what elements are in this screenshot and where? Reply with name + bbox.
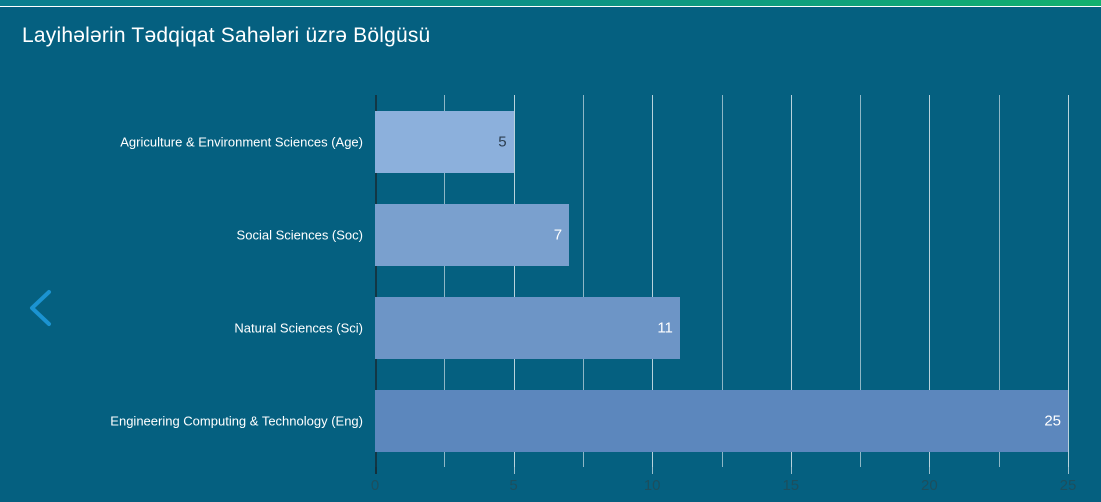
x-tick-label: 25: [1060, 477, 1077, 494]
bar-value-label: 25: [1044, 412, 1061, 429]
tick-mark: [1068, 467, 1069, 474]
category-label: Social Sciences (Soc): [237, 227, 363, 242]
bar[interactable]: 11: [375, 297, 680, 359]
category-axis-labels: Agriculture & Environment Sciences (Age)…: [0, 95, 363, 467]
x-tick-label: 20: [921, 477, 938, 494]
x-tick-label: 15: [782, 477, 799, 494]
bar-value-label: 11: [657, 319, 673, 336]
gridline-major: [1068, 95, 1069, 467]
top-divider-rule: [0, 6, 1101, 7]
category-label: Natural Sciences (Sci): [234, 320, 363, 335]
x-tick-label: 5: [509, 477, 517, 494]
tick-mark: [791, 467, 792, 474]
bar-value-label: 5: [498, 133, 506, 150]
tick-mark: [514, 467, 515, 474]
page-title: Layihələrin Tədqiqat Sahələri üzrə Bölgü…: [22, 24, 430, 48]
category-label: Engineering Computing & Technology (Eng): [110, 413, 363, 428]
x-tick-label: 10: [644, 477, 661, 494]
category-label: Agriculture & Environment Sciences (Age): [120, 134, 363, 149]
bar-value-label: 7: [554, 226, 562, 243]
tick-mark: [929, 467, 930, 474]
plot-area: 571125 0510152025: [375, 95, 1068, 467]
x-tick-label: 0: [371, 477, 379, 494]
bar[interactable]: 25: [375, 390, 1068, 452]
bar[interactable]: 5: [375, 111, 514, 173]
chart-page: Layihələrin Tədqiqat Sahələri üzrə Bölgü…: [0, 0, 1101, 502]
bar[interactable]: 7: [375, 204, 569, 266]
tick-mark: [652, 467, 653, 474]
tick-mark: [375, 467, 377, 474]
